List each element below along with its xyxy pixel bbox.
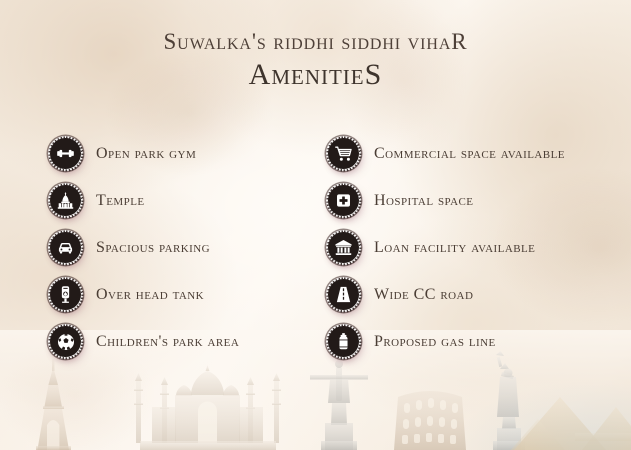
landmark-pyramids [511, 397, 631, 450]
amenity-item-spacious-parking[interactable]: Spacious parking [50, 224, 239, 271]
amenity-label: Children's park area [96, 333, 239, 351]
amenity-label: Proposed gas line [374, 333, 496, 351]
dumbbell-icon [50, 138, 81, 169]
amenity-item-childrens-park-area[interactable]: Children's park area [50, 318, 239, 365]
amenity-item-wide-cc-road[interactable]: Wide CC road [328, 271, 565, 318]
amenity-label: Temple [96, 192, 145, 210]
landmark-colosseum [394, 391, 466, 450]
amenity-label: Commercial space available [374, 145, 565, 163]
amenity-item-over-head-tank[interactable]: Over head tank [50, 271, 239, 318]
landmark-eiffel-tower [36, 359, 71, 450]
shopping-cart-icon [328, 138, 359, 169]
amenity-label: Over head tank [96, 286, 204, 304]
amenity-label: Open park gym [96, 145, 196, 163]
landmark-statue-of-liberty [493, 351, 525, 450]
amenity-label: Loan facility available [374, 239, 535, 257]
amenities-poster: Suwalka's riddhi siddhi vihaR AmenitieS [0, 0, 631, 450]
water-tank-icon [50, 279, 81, 310]
amenity-item-proposed-gas-line[interactable]: Proposed gas line [328, 318, 565, 365]
amenity-item-loan-facility-available[interactable]: Loan facility available [328, 224, 565, 271]
amenities-left-column: Open park gym [50, 130, 239, 365]
gas-cylinder-icon [328, 326, 359, 357]
amenity-item-open-park-gym[interactable]: Open park gym [50, 130, 239, 177]
page-title: Suwalka's riddhi siddhi vihaR [0, 30, 631, 55]
landmark-christ-the-redeemer [310, 360, 368, 450]
amenity-item-temple[interactable]: Temple [50, 177, 239, 224]
amenities-right-column: Commercial space available Hospital spac [328, 130, 565, 365]
amenity-label: Hospital space [374, 192, 473, 210]
medical-cross-icon [328, 185, 359, 216]
soccer-ball-icon [50, 326, 81, 357]
amenity-item-hospital-space[interactable]: Hospital space [328, 177, 565, 224]
bank-icon [328, 232, 359, 263]
amenity-item-commercial-space-available[interactable]: Commercial space available [328, 130, 565, 177]
amenity-label: Wide CC road [374, 286, 473, 304]
landmark-taj-mahal [134, 365, 281, 450]
road-icon [328, 279, 359, 310]
car-icon [50, 232, 81, 263]
poster-header: Suwalka's riddhi siddhi vihaR AmenitieS [0, 30, 631, 91]
temple-icon [50, 185, 81, 216]
amenity-label: Spacious parking [96, 239, 210, 257]
page-subtitle: AmenitieS [0, 58, 631, 92]
